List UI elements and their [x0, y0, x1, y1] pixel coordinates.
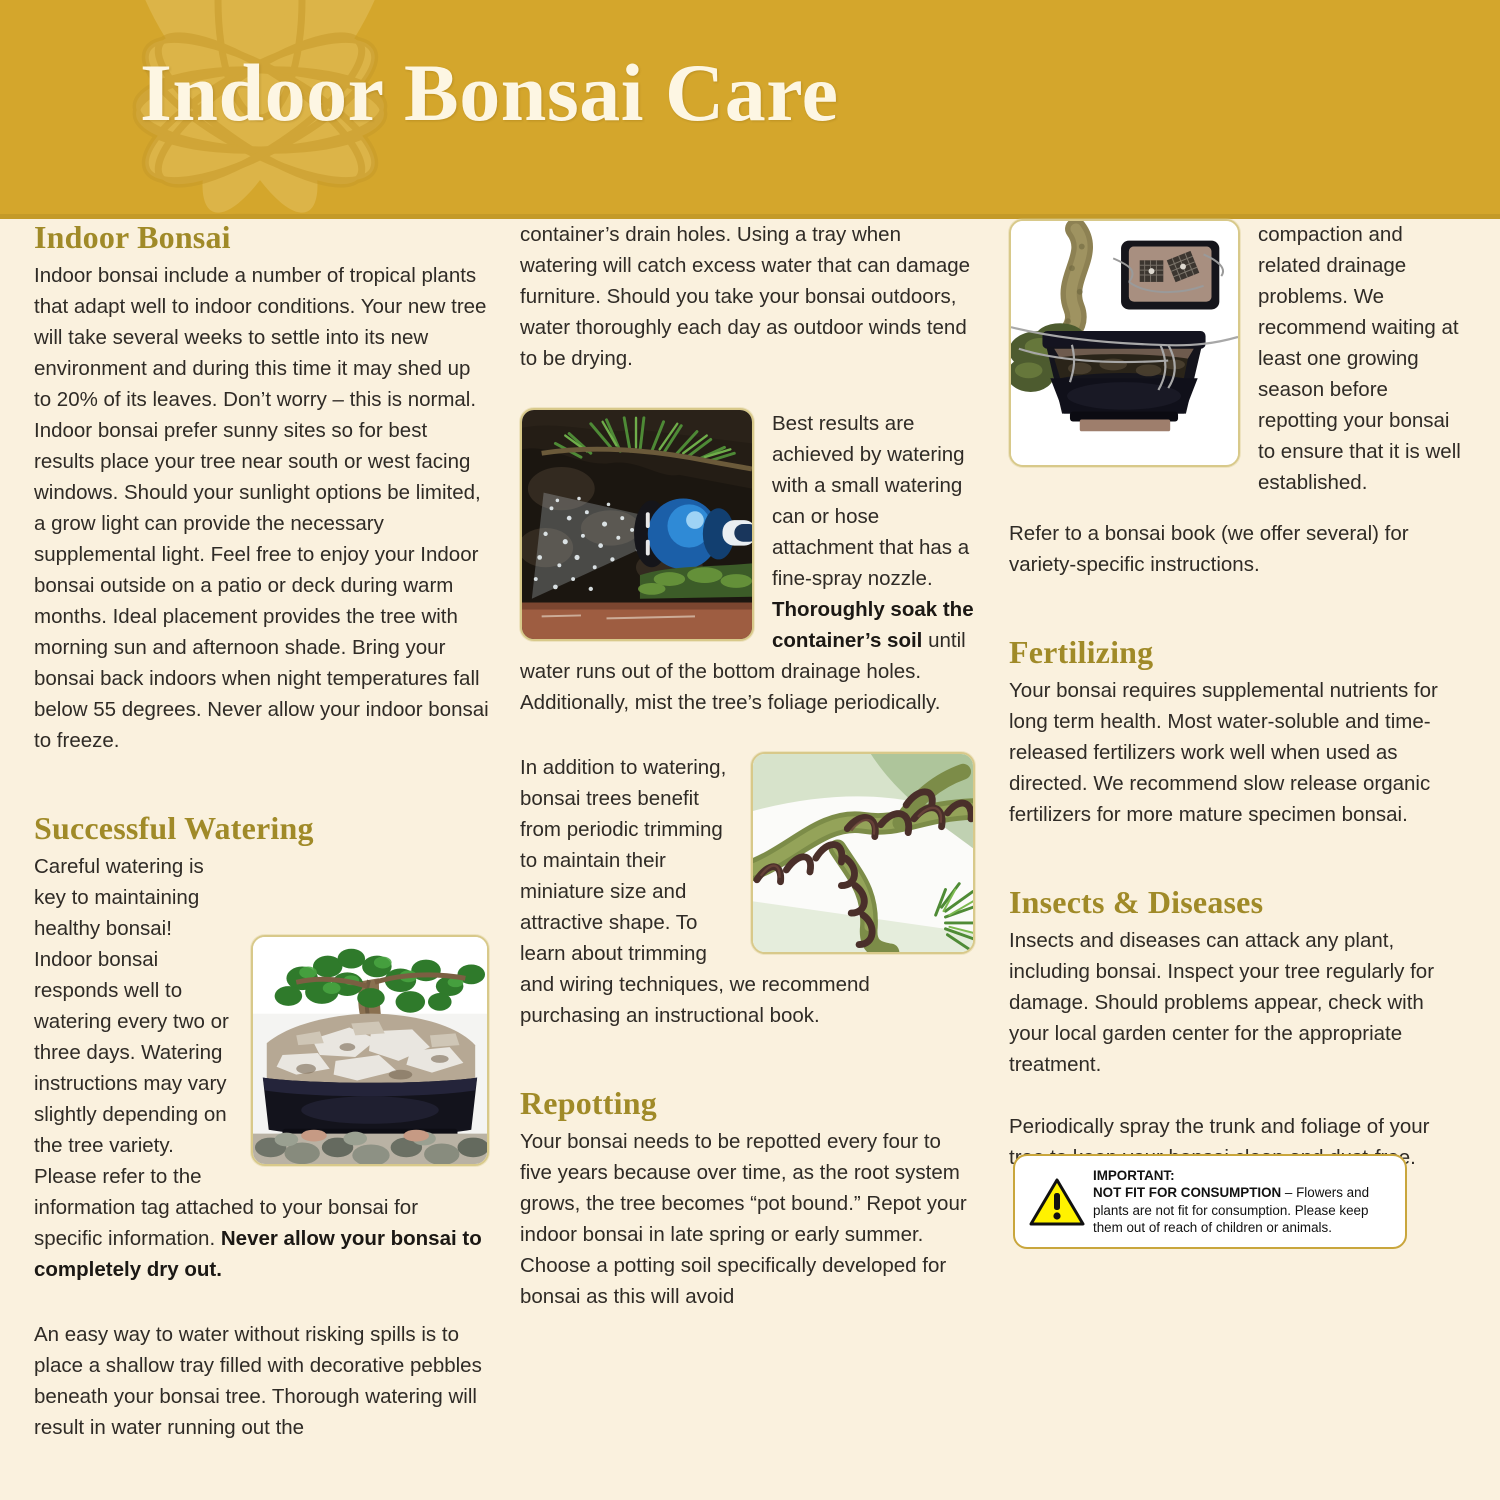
warning-label: IMPORTANT: [1093, 1167, 1395, 1185]
heading-insects-diseases: Insects & Diseases [1009, 884, 1469, 921]
paragraph-insects-1: Insects and diseases can attack any plan… [1009, 925, 1469, 1080]
page-root: Indoor Bonsai Care Indoor Bonsai Indoor … [0, 0, 1500, 1500]
heading-successful-watering: Successful Watering [34, 810, 489, 847]
paragraph-watering-tray: An easy way to water without risking spi… [34, 1319, 489, 1443]
photo-jade-bonsai-in-dark-pot [251, 935, 489, 1166]
paragraph-repotting: Your bonsai needs to be repotted every f… [520, 1126, 975, 1312]
photo-pot-with-drainage-mesh [1009, 219, 1240, 467]
hose-nozzle-illustration [522, 410, 752, 639]
warning-text-block: IMPORTANT: NOT FIT FOR CONSUMPTION – Flo… [1093, 1167, 1395, 1237]
pot-drainage-mesh-illustration [1011, 221, 1238, 465]
column-right: compaction and related drainage problems… [1009, 219, 1469, 1173]
content-area: Indoor Bonsai Indoor bonsai include a nu… [0, 219, 1500, 1500]
heading-repotting: Repotting [520, 1085, 975, 1122]
jade-bonsai-illustration [253, 937, 487, 1164]
paragraph-refer-book: Refer to a bonsai book (we offer several… [1009, 518, 1469, 580]
heading-indoor-bonsai: Indoor Bonsai [34, 219, 489, 256]
warning-headline: NOT FIT FOR CONSUMPTION [1093, 1185, 1281, 1200]
paragraph-fertilizing: Your bonsai requires supplemental nutrie… [1009, 675, 1469, 830]
heading-fertilizing: Fertilizing [1009, 634, 1469, 671]
page-header: Indoor Bonsai Care [0, 0, 1500, 214]
best-results-text: Best results are achieved by watering wi… [772, 412, 969, 590]
paragraph-indoor-bonsai: Indoor bonsai include a number of tropic… [34, 260, 489, 756]
warning-triangle-icon [1029, 1177, 1085, 1227]
page-title: Indoor Bonsai Care [140, 52, 839, 134]
important-warning-box: IMPORTANT: NOT FIT FOR CONSUMPTION – Flo… [1013, 1154, 1407, 1249]
photo-wired-bonsai-branches [751, 752, 975, 954]
wired-branches-illustration [753, 754, 973, 952]
paragraph-drain-holes: container’s drain holes. Using a tray wh… [520, 219, 975, 374]
photo-hose-nozzle-spraying [520, 408, 754, 641]
column-middle: container’s drain holes. Using a tray wh… [520, 219, 975, 1312]
column-left: Indoor Bonsai Indoor bonsai include a nu… [34, 219, 489, 1443]
